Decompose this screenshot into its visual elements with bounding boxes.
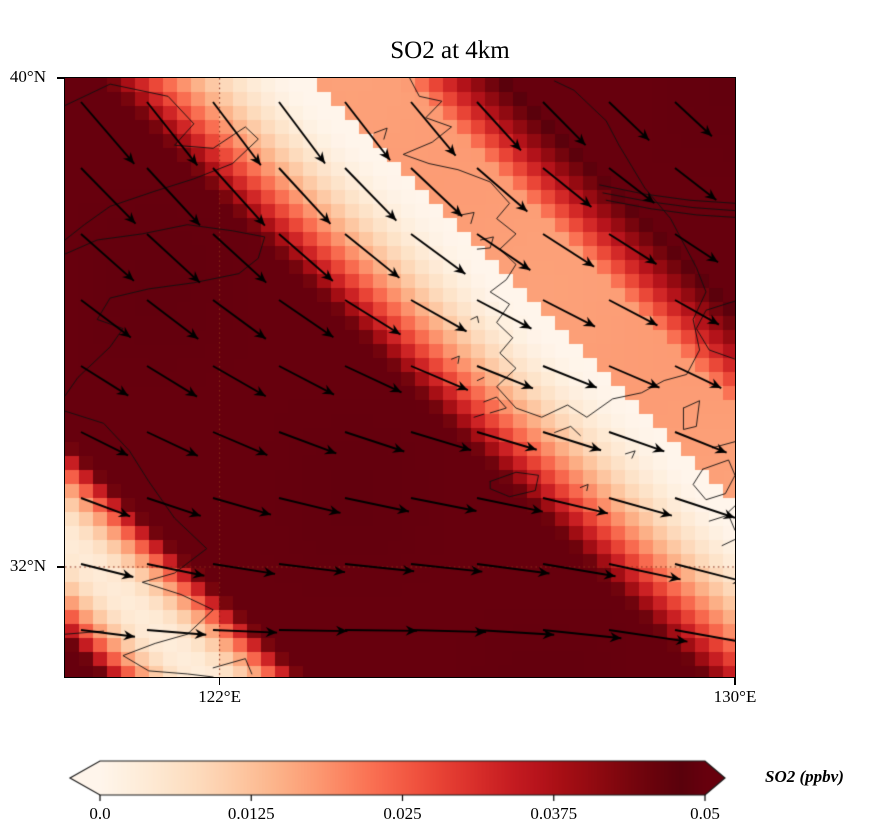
ytick-label-32n: 32°N xyxy=(0,556,46,576)
ytick-mark-40n xyxy=(57,77,64,78)
xtick-label-122e: 122°E xyxy=(160,687,280,707)
wind-vector-layer xyxy=(65,78,735,677)
xtick-label-130e: 130°E xyxy=(675,687,795,707)
xtick-mark-122e xyxy=(219,678,220,685)
ytick-mark-32n xyxy=(57,566,64,567)
ytick-label-40n: 40°N xyxy=(0,67,46,87)
colorbar-axis-label: SO2 (ppbv) xyxy=(765,767,844,787)
colorbar-tick-label-0: 0.0 xyxy=(40,804,160,824)
xtick-mark-130e xyxy=(734,678,735,685)
colorbar-gradient xyxy=(60,755,740,805)
colorbar-tick-label-3: 0.0375 xyxy=(494,804,614,824)
colorbar-tick-label-1: 0.0125 xyxy=(191,804,311,824)
title-line-1: SO2 at 4km xyxy=(390,37,509,64)
figure-root: SO2 at 4km Time: 2024-03-21 00:00:00 40°… xyxy=(0,0,875,836)
colorbar-tick-label-2: 0.025 xyxy=(343,804,463,824)
map-plot-area[interactable] xyxy=(64,77,736,678)
colorbar-tick-label-4: 0.05 xyxy=(645,804,765,824)
